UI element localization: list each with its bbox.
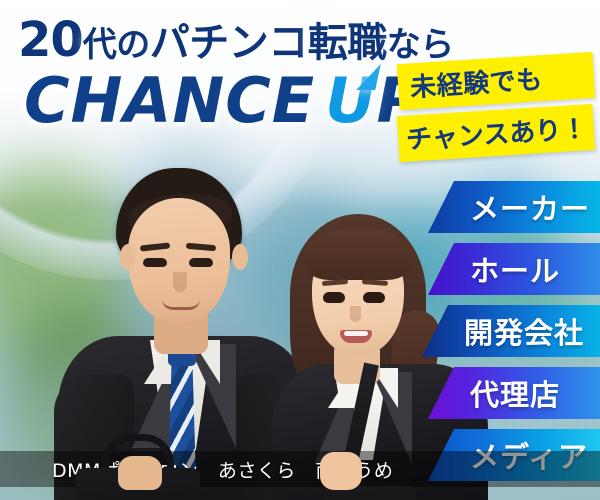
category-label: メーカー [470,186,590,228]
advertisement-banner[interactable]: 20代のパチンコ転職なら CHANCEUP 未経験でも チャンスあり！ メーカー… [0,0,600,500]
headline-mid: 代の [83,25,150,65]
logo-chance-text: CHANCE [24,64,315,137]
category-button-agency[interactable]: 代理店 [428,367,600,419]
category-label: 開発会社 [464,310,584,352]
category-button-maker[interactable]: メーカー [428,181,600,233]
category-button-developer[interactable]: 開発会社 [422,305,600,357]
logo-u-letter: U [315,70,376,132]
chance-up-logo: CHANCEUP [24,70,423,132]
badge-line-2: チャンスあり！ [397,104,596,162]
badge-line-1: 未経験でも [397,52,596,110]
category-label: ホール [470,248,560,290]
category-label: 代理店 [470,372,560,414]
headline-text: 20代のパチンコ転職なら [18,16,454,64]
highlight-badge: 未経験でも チャンスあり！ [398,58,594,156]
headline-katakana: パチンコ [150,20,308,66]
category-button-hall[interactable]: ホール [428,243,600,295]
headline-tail: 転職 [308,20,387,66]
headline-number: 20 [18,12,83,68]
